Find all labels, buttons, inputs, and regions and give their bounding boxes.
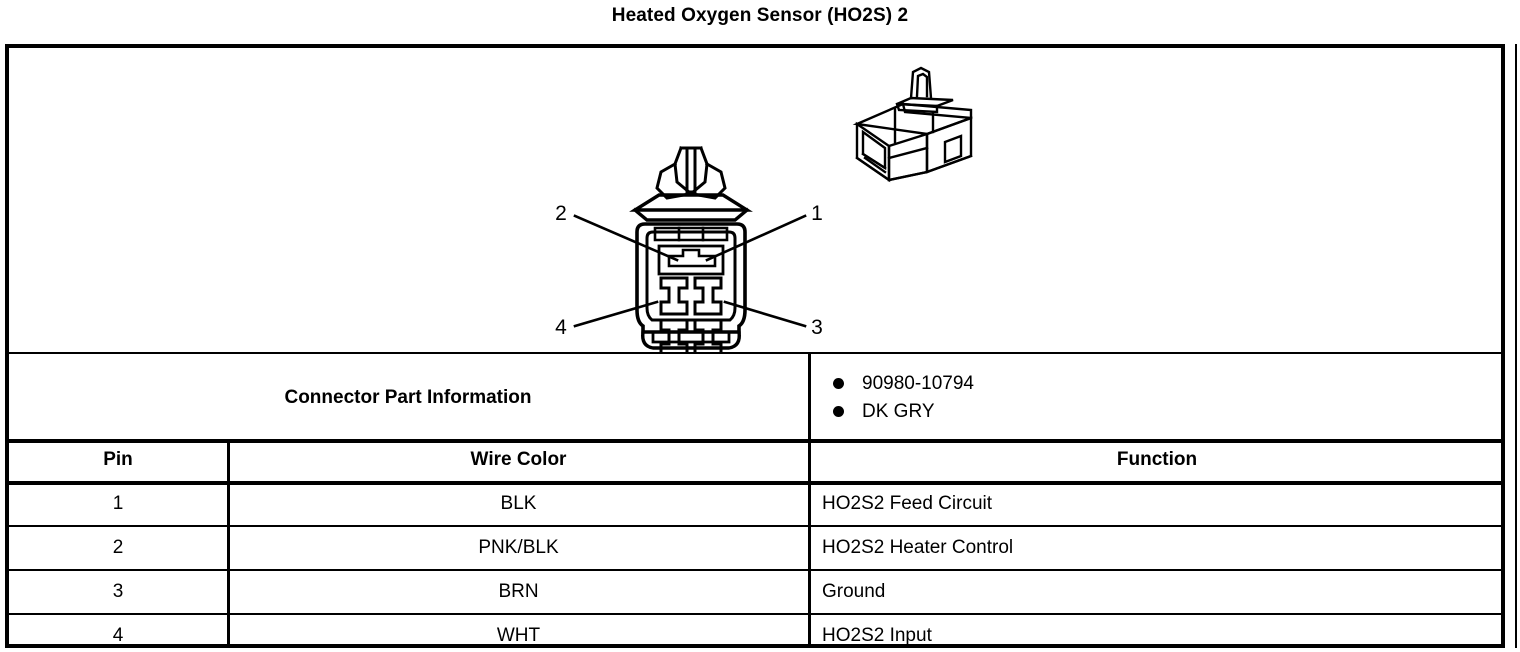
table-cell-pin: 4: [9, 615, 227, 652]
bullet-icon: [833, 406, 844, 417]
column-header-wire-color: Wire Color: [230, 439, 807, 481]
page-edge-rule: [1515, 44, 1517, 648]
connector-part-information-label: Connector Part Information: [9, 356, 807, 439]
connector-information-table: 2 1 4 3: [5, 44, 1505, 648]
partinfo-column-divider: [808, 352, 811, 439]
table-cell-wire-color: BLK: [230, 483, 807, 525]
column-header-pin: Pin: [9, 439, 227, 481]
callout-label-4: 4: [555, 316, 567, 339]
part-color-item: DK GRY: [833, 398, 1501, 426]
connector-isometric-view: [841, 62, 1001, 192]
part-color-value: DK GRY: [862, 398, 935, 426]
bullet-icon: [833, 378, 844, 389]
table-cell-pin: 1: [9, 483, 227, 525]
table-cell-function: HO2S2 Feed Circuit: [813, 483, 1501, 525]
table-cell-pin: 3: [9, 571, 227, 613]
table-cell-wire-color: BRN: [230, 571, 807, 613]
connector-part-information-values: 90980-10794 DK GRY: [813, 356, 1501, 439]
part-number-value: 90980-10794: [862, 370, 974, 398]
connector-illustration: 2 1 4 3: [9, 48, 1501, 352]
part-number-item: 90980-10794: [833, 370, 1501, 398]
table-cell-function: HO2S2 Input: [813, 615, 1501, 652]
callout-label-1: 1: [811, 202, 823, 225]
rule-under-illustration: [9, 352, 1501, 354]
wire-function-column-divider: [808, 439, 811, 644]
table-cell-pin: 2: [9, 527, 227, 569]
callout-label-2: 2: [555, 202, 567, 225]
callout-label-3: 3: [811, 316, 823, 339]
table-cell-function: HO2S2 Heater Control: [813, 527, 1501, 569]
column-header-function: Function: [813, 439, 1501, 481]
table-cell-wire-color: PNK/BLK: [230, 527, 807, 569]
table-cell-wire-color: WHT: [230, 615, 807, 652]
page-title: Heated Oxygen Sensor (HO2S) 2: [0, 4, 1520, 28]
pin-wire-column-divider: [227, 439, 230, 644]
document-page: Heated Oxygen Sensor (HO2S) 2: [0, 0, 1520, 652]
table-cell-function: Ground: [813, 571, 1501, 613]
connector-face-view: 2 1 4 3: [549, 64, 829, 354]
